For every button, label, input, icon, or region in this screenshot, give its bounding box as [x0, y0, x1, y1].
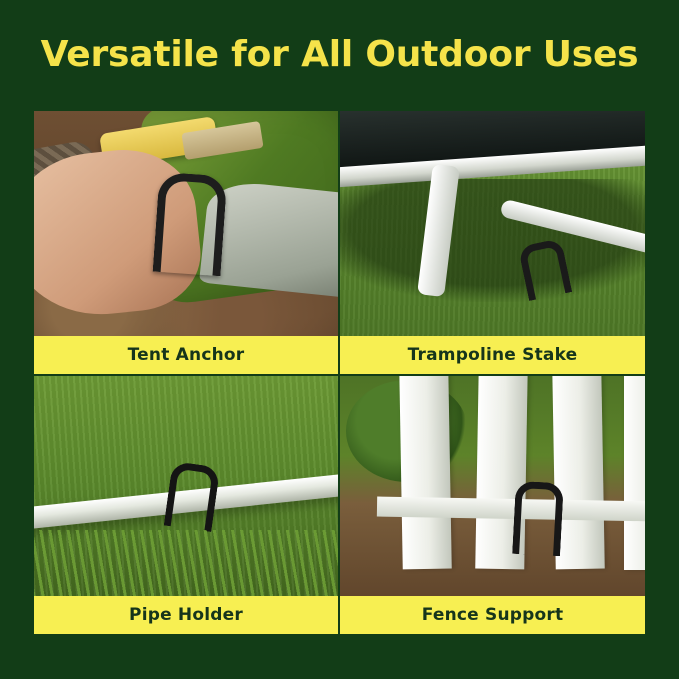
- product-infographic-poster: Versatile for All Outdoor Uses Tent Anch…: [0, 0, 679, 679]
- ground-stake-icon: [163, 461, 220, 532]
- caption-trampoline-stake: Trampoline Stake: [340, 336, 645, 374]
- ground-stake-icon: [512, 480, 564, 555]
- use-case-card-trampoline-stake[interactable]: Trampoline Stake: [339, 110, 646, 375]
- caption-fence-support: Fence Support: [340, 596, 645, 634]
- fence-picket: [399, 376, 451, 570]
- caption-tent-anchor: Tent Anchor: [34, 336, 338, 374]
- caption-pipe-holder: Pipe Holder: [34, 596, 338, 634]
- use-case-grid: Tent Anchor Trampoline Stake: [33, 110, 646, 635]
- photo-fence-support: [340, 376, 645, 596]
- use-case-card-pipe-holder[interactable]: Pipe Holder: [33, 375, 339, 635]
- photo-pipe-holder: [34, 376, 338, 596]
- page-title: Versatile for All Outdoor Uses: [0, 34, 679, 75]
- ground-stake-icon: [152, 172, 227, 276]
- fence-picket: [624, 376, 645, 570]
- photo-trampoline-stake: [340, 111, 645, 336]
- photo-tent-anchor: [34, 111, 338, 336]
- use-case-card-tent-anchor[interactable]: Tent Anchor: [33, 110, 339, 375]
- grass-blades-foreground: [34, 530, 338, 596]
- use-case-card-fence-support[interactable]: Fence Support: [339, 375, 646, 635]
